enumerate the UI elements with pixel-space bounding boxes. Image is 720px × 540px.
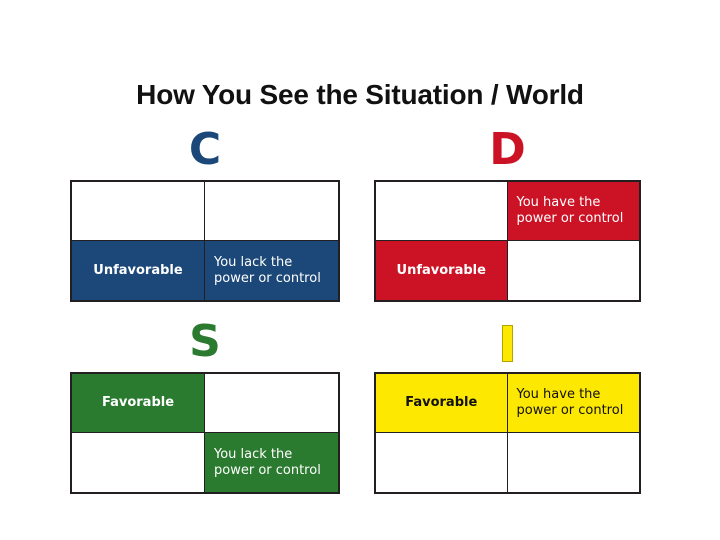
cell-d-bottom-right [508, 241, 640, 300]
cell-s-top-left: Favorable [72, 374, 205, 433]
letter-i-bar-icon [502, 325, 513, 362]
cell-i-bottom-left [376, 433, 508, 492]
cell-d-bottom-left: Unfavorable [376, 241, 508, 300]
cell-s-top-right [205, 374, 338, 433]
quadrant-s: S Favorable You lack the power or contro… [70, 314, 340, 494]
cell-i-top-left-text: Favorable [385, 395, 498, 411]
cell-d-bottom-left-text: Unfavorable [385, 263, 498, 279]
cell-c-bottom-right: You lack the power or control [205, 241, 338, 300]
grid-c: Unfavorable You lack the power or contro… [70, 180, 340, 302]
disc-letter-c: C [70, 122, 340, 180]
cell-i-top-right: You have the power or control [508, 374, 640, 433]
page-title: How You See the Situation / World [0, 78, 720, 112]
disc-letter-s: S [70, 314, 340, 372]
grid-d: You have the power or control Unfavorabl… [374, 180, 641, 302]
cell-s-bottom-right: You lack the power or control [205, 433, 338, 492]
quadrant-i: Favorable You have the power or control [374, 314, 641, 494]
cell-c-bottom-right-text: You lack the power or control [214, 255, 329, 287]
cell-d-top-right: You have the power or control [508, 182, 640, 241]
cell-s-bottom-right-text: You lack the power or control [214, 447, 329, 479]
cell-i-top-right-text: You have the power or control [517, 387, 631, 419]
cell-i-bottom-right [508, 433, 640, 492]
cell-c-top-right [205, 182, 338, 241]
cell-i-top-left: Favorable [376, 374, 508, 433]
cell-s-bottom-left [72, 433, 205, 492]
cell-d-top-left [376, 182, 508, 241]
disc-letter-i [374, 314, 641, 372]
quadrant-d: D You have the power or control Unfavora… [374, 122, 641, 302]
cell-c-bottom-left-text: Unfavorable [81, 263, 195, 279]
quadrant-c: C Unfavorable You lack the power or cont… [70, 122, 340, 302]
grid-s: Favorable You lack the power or control [70, 372, 340, 494]
cell-s-top-left-text: Favorable [81, 395, 195, 411]
cell-d-top-right-text: You have the power or control [517, 195, 631, 227]
cell-c-top-left [72, 182, 205, 241]
cell-c-bottom-left: Unfavorable [72, 241, 205, 300]
grid-i: Favorable You have the power or control [374, 372, 641, 494]
disc-letter-d: D [374, 122, 641, 180]
